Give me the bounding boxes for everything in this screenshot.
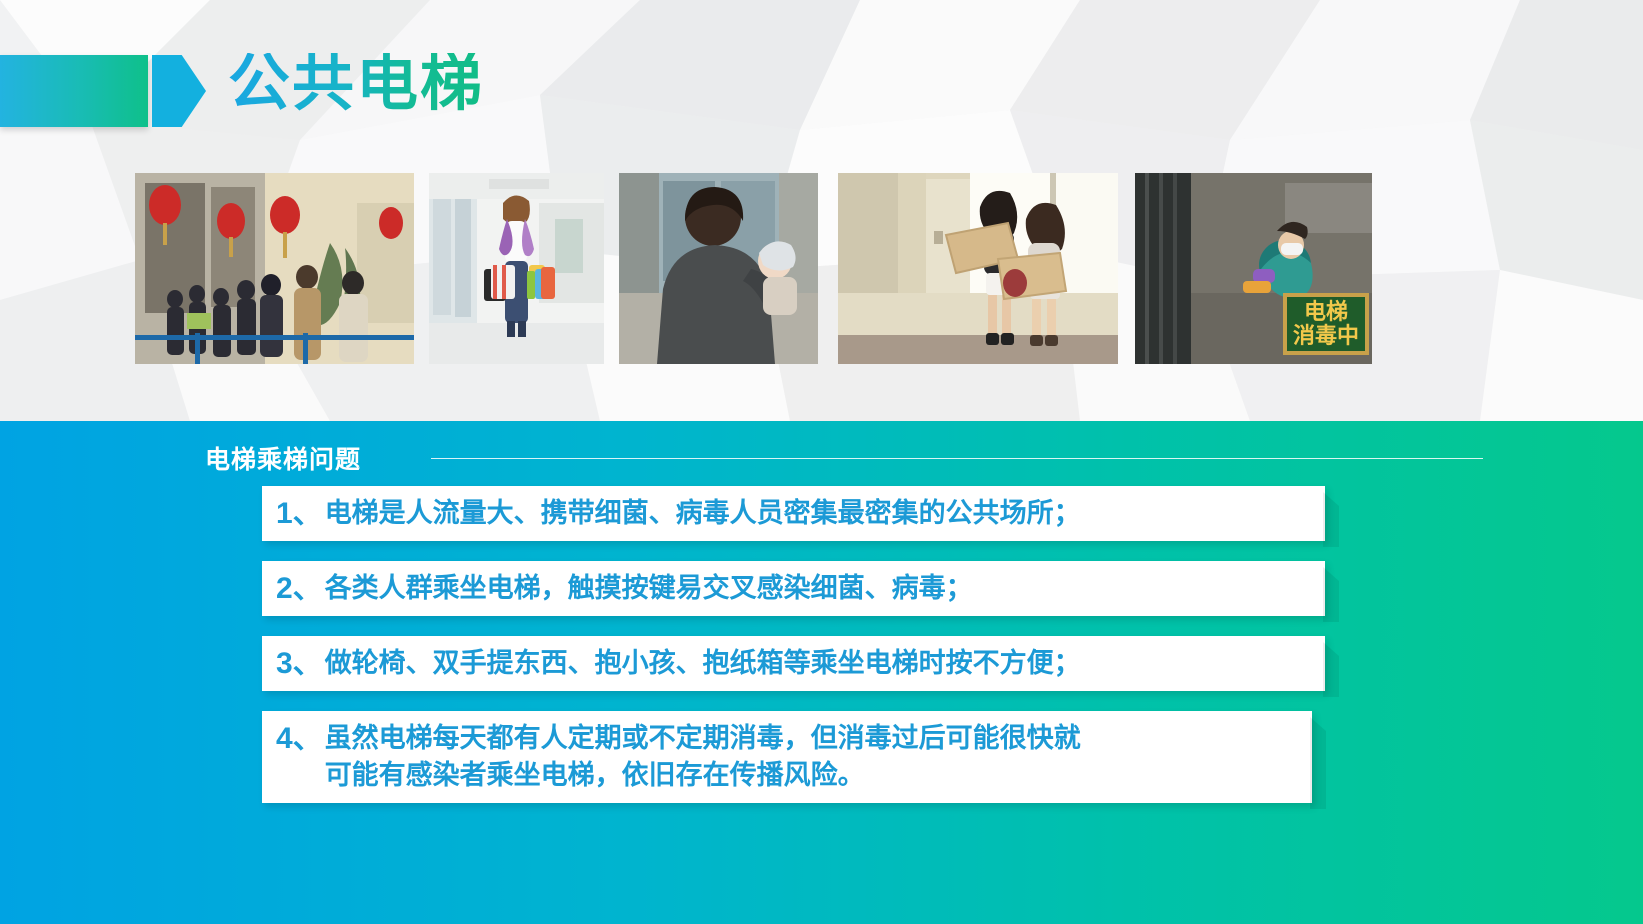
item-line: 可能有感染者乘坐电梯，依旧存在传播风险。 — [325, 757, 1081, 794]
svg-text:消毒中: 消毒中 — [1293, 323, 1359, 348]
section-divider — [431, 458, 1483, 459]
man-holding-child-photo — [619, 173, 818, 364]
page-title: 公共电梯 — [228, 53, 484, 115]
card-corner-accent — [1323, 492, 1339, 547]
queue-in-lobby-image — [135, 173, 414, 364]
women-carrying-boxes-image — [838, 173, 1118, 364]
women-carrying-boxes-photo — [838, 173, 1118, 364]
chevron-right-banner-icon — [152, 55, 206, 127]
section-header: 电梯乘梯问题 — [205, 440, 1483, 476]
shopper-in-mall-photo — [429, 173, 604, 364]
item-line: 虽然电梯每天都有人定期或不定期消毒，但消毒过后可能很快就 — [325, 720, 1081, 757]
list-item: 1、 电梯是人流量大、携带细菌、病毒人员密集最密集的公共场所； — [262, 486, 1325, 541]
item-number: 2、 — [276, 570, 325, 607]
man-holding-child-image — [619, 173, 818, 364]
svg-text:电梯: 电梯 — [1304, 299, 1348, 324]
card-corner-accent — [1323, 642, 1339, 697]
elevator-disinfection-photo: 电梯 消毒中 — [1135, 173, 1372, 364]
item-number: 4、 — [276, 720, 325, 757]
list-item: 3、 做轮椅、双手提东西、抱小孩、抱纸箱等乘坐电梯时按不方便； — [262, 636, 1325, 691]
card-corner-accent — [1323, 567, 1339, 622]
slide-stage: 公共电梯 — [0, 0, 1643, 924]
item-text: 电梯是人流量大、携带细菌、病毒人员密集最密集的公共场所； — [325, 495, 1081, 532]
title-banner — [0, 55, 205, 127]
list-item: 4、 虽然电梯每天都有人定期或不定期消毒，但消毒过后可能很快就 可能有感染者乘坐… — [262, 711, 1312, 803]
item-line: 各类人群乘坐电梯，触摸按键易交叉感染细菌、病毒； — [325, 570, 973, 607]
issue-list: 1、 电梯是人流量大、携带细菌、病毒人员密集最密集的公共场所； 2、 各类人群乘… — [262, 486, 1325, 823]
item-line: 电梯是人流量大、携带细菌、病毒人员密集最密集的公共场所； — [325, 495, 1081, 532]
banner-bar — [0, 55, 148, 127]
item-text: 做轮椅、双手提东西、抱小孩、抱纸箱等乘坐电梯时按不方便； — [325, 645, 1081, 682]
elevator-disinfection-image: 电梯 消毒中 — [1135, 173, 1372, 364]
section-title: 电梯乘梯问题 — [205, 440, 361, 476]
content-panel: 电梯乘梯问题 1、 电梯是人流量大、携带细菌、病毒人员密集最密集的公共场所； 2… — [0, 421, 1643, 924]
list-item: 2、 各类人群乘坐电梯，触摸按键易交叉感染细菌、病毒； — [262, 561, 1325, 616]
top-section: 公共电梯 — [0, 0, 1643, 421]
item-text: 各类人群乘坐电梯，触摸按键易交叉感染细菌、病毒； — [325, 570, 973, 607]
item-line: 做轮椅、双手提东西、抱小孩、抱纸箱等乘坐电梯时按不方便； — [325, 645, 1081, 682]
item-number: 3、 — [276, 645, 325, 682]
item-number: 1、 — [276, 495, 325, 532]
queue-in-lobby-photo — [135, 173, 414, 364]
item-text: 虽然电梯每天都有人定期或不定期消毒，但消毒过后可能很快就 可能有感染者乘坐电梯，… — [325, 720, 1081, 794]
card-corner-accent — [1310, 717, 1326, 809]
shopper-in-mall-image — [429, 173, 604, 364]
